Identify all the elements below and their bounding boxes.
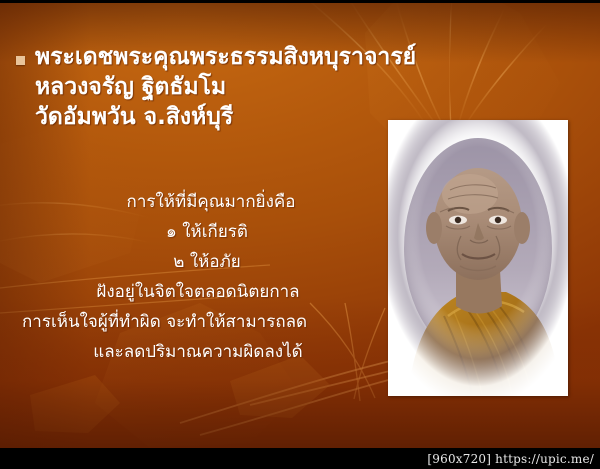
body-line-4: ฝังอยู่ในจิตใจตลอดนิตยกาล bbox=[0, 278, 396, 308]
square-bullet-icon bbox=[16, 56, 25, 65]
body-line-heading: การให้ที่มีคุณมากยิ่งคือ bbox=[0, 188, 396, 218]
portrait-photo bbox=[388, 120, 568, 396]
body-line-6: และลดปริมาณความผิดลงได้ bbox=[0, 338, 396, 368]
body-line-item-1: ๑ ให้เกียรติ bbox=[0, 218, 396, 248]
slide-canvas: พระเดชพระคุณพระธรรมสิงหบุราจารย์ หลวงจรั… bbox=[0, 0, 600, 469]
watermark-text: [960x720] https://upic.me/ bbox=[427, 452, 600, 466]
title-line-1: พระเดชพระคุณพระธรรมสิงหบุราจารย์ bbox=[35, 43, 556, 73]
top-black-border bbox=[0, 0, 600, 3]
body-line-item-2: ๒ ให้อภัย bbox=[0, 248, 396, 278]
body-line-5: การเห็นใจผู้ที่ทำผิด จะทำให้สามารถลด bbox=[0, 308, 396, 338]
body-text-block: การให้ที่มีคุณมากยิ่งคือ ๑ ให้เกียรติ ๒ … bbox=[0, 188, 396, 367]
portrait-photo-image bbox=[388, 120, 568, 396]
title-line-2: หลวงจรัญ ฐิตธัมโม bbox=[35, 73, 556, 103]
watermark-bar: [960x720] https://upic.me/ bbox=[0, 448, 600, 469]
